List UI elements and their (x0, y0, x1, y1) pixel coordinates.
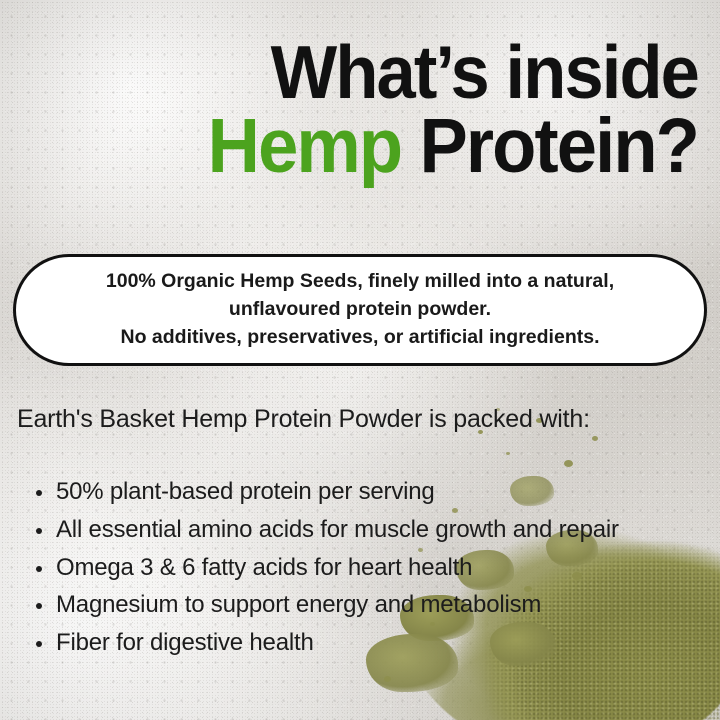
list-item: All essential amino acids for muscle gro… (30, 516, 619, 545)
benefits-list: 50% plant-based protein per serving All … (30, 478, 619, 667)
list-item: Magnesium to support energy and metaboli… (30, 591, 619, 620)
list-item: 50% plant-based protein per serving (30, 478, 619, 507)
page-title: What’s inside Hemp Protein? (20, 38, 698, 182)
list-item: Fiber for digestive health (30, 629, 619, 658)
benefits-intro-text: Earth's Basket Hemp Protein Powder is pa… (17, 405, 590, 434)
headline-line-1: What’s inside (61, 38, 698, 107)
callout-line-3: No additives, preservatives, or artifici… (120, 324, 599, 352)
headline-protein-word: Protein? (401, 103, 698, 189)
product-description-callout: 100% Organic Hemp Seeds, finely milled i… (13, 254, 707, 366)
callout-line-1: 100% Organic Hemp Seeds, finely milled i… (106, 268, 614, 296)
list-item: Omega 3 & 6 fatty acids for heart health (30, 554, 619, 583)
headline-line-2: Hemp Protein? (61, 111, 698, 182)
headline-hemp-word: Hemp (208, 103, 402, 189)
hemp-protein-infographic: What’s inside Hemp Protein? 100% Organic… (0, 0, 720, 720)
callout-line-2: unflavoured protein powder. (229, 296, 491, 324)
